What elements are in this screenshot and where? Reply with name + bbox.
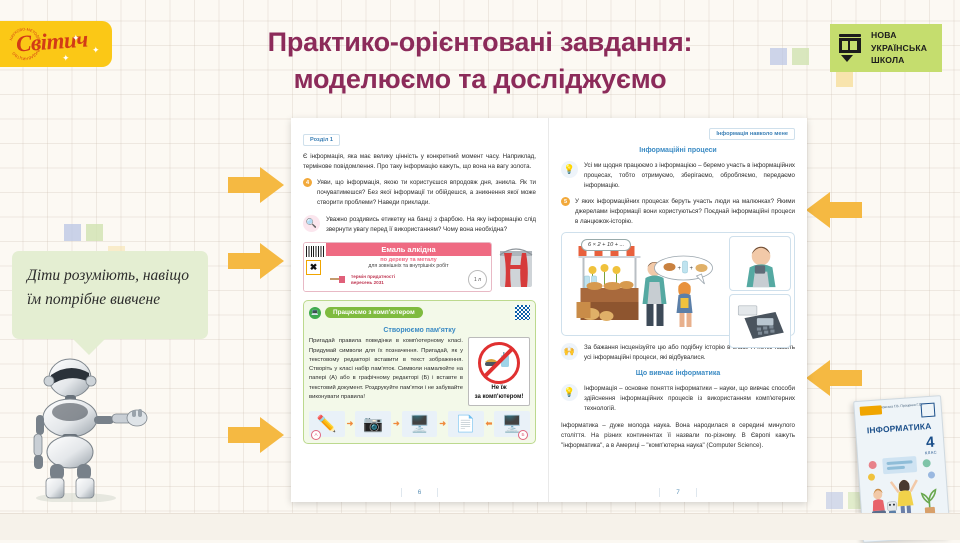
paint-expiry-value: вересень 2031 bbox=[351, 280, 395, 286]
nus-mark-icon bbox=[839, 34, 865, 62]
publisher-logo: НАУКОВО-МЕТОДИЧНЕ ВИДАВНИЦТВО Світич ✦ ✦… bbox=[0, 21, 112, 67]
svg-text:+: + bbox=[678, 266, 682, 272]
paint-can-image bbox=[496, 245, 536, 289]
slide-canvas: НАУКОВО-МЕТОДИЧНЕ ВИДАВНИЦТВО Світич ✦ ✦… bbox=[0, 0, 960, 540]
magnifier-icon: 🔍 bbox=[303, 215, 320, 232]
arrow-left-middle bbox=[228, 243, 284, 279]
warning-symbol: ✖ bbox=[306, 260, 321, 275]
magnifier-task-text: Уважно роздивись етикетку на банці з фар… bbox=[326, 215, 536, 235]
nus-logo: НОВА УКРАЇНСЬКА ШКОЛА bbox=[830, 24, 942, 72]
right-page-number-wrap: 7 bbox=[549, 489, 807, 496]
illustration-figure: + + 6 × 2 + 10 + ... bbox=[561, 232, 795, 336]
flow-tag-b: Б bbox=[518, 430, 528, 440]
bulb-task-2: 💡 Інформація – основне поняття інформати… bbox=[561, 384, 795, 414]
flow-step-editor: 🖥️ Б bbox=[494, 411, 530, 437]
paint-volume: 1 л bbox=[468, 270, 487, 289]
decor-square-green-left bbox=[86, 224, 103, 241]
assistant-scene bbox=[729, 236, 791, 291]
right-paragraph-last: Інформатика – дуже молода наука. Вона на… bbox=[561, 421, 795, 451]
bulb-text-2: Інформація – основне поняття інформатики… bbox=[584, 384, 795, 414]
magnifier-task: 🔍 Уважно роздивись етикетку на банці з ф… bbox=[303, 215, 536, 235]
flow-arrow-1: ➜ bbox=[347, 419, 354, 428]
payment-terminal-scene bbox=[729, 294, 791, 349]
computer-block-banner: Працюємо з комп'ютером bbox=[325, 307, 423, 318]
flow-arrow-3: ➜ bbox=[439, 419, 446, 428]
brush-icon bbox=[330, 275, 348, 284]
sign-line-2: за комп'ютером! bbox=[472, 394, 526, 402]
paint-label-body: Емаль алкідна по дереву та металу для зо… bbox=[326, 243, 491, 291]
task-4-number: 4 bbox=[303, 178, 312, 187]
paint-label-side: ✖ bbox=[304, 243, 326, 291]
flow-step-document: 📄 bbox=[448, 411, 484, 437]
nus-line-3: ШКОЛА bbox=[871, 54, 927, 67]
sparkle-icon-2: ✦ bbox=[62, 53, 70, 64]
paint-expiry-label: термін придатності bbox=[351, 274, 395, 280]
computer-block-heading: Створюємо пам'ятку bbox=[309, 327, 530, 334]
textbook-left-page: Розділ 1 Є інформація, яка має велику ці… bbox=[291, 118, 549, 502]
lightbulb-icon-2: 💡 bbox=[561, 384, 578, 401]
right-heading-2: Що вивчає інформатика bbox=[561, 370, 795, 377]
computer-block-text: Пригадай правила поведінки в комп'ютерно… bbox=[309, 337, 463, 406]
flow-tag-a: А bbox=[311, 430, 321, 440]
arrow-right-top bbox=[806, 192, 862, 228]
title-line-1: Практико-орієнтовані завдання: bbox=[268, 27, 693, 57]
cover-ribbon bbox=[860, 405, 883, 416]
left-page-number-wrap: 6 bbox=[291, 489, 548, 496]
decor-square-yellow-top bbox=[836, 70, 853, 87]
task-4: 4 Уяви, що інформація, якою ти користуєш… bbox=[303, 178, 536, 208]
prohibition-icon bbox=[478, 342, 520, 384]
right-heading-1: Інформаційні процеси bbox=[561, 147, 795, 154]
task-4-text: Уяви, що інформація, якою ти користуєшся… bbox=[317, 178, 536, 208]
market-scene: + + 6 × 2 + 10 + ... bbox=[565, 236, 726, 332]
paint-label-card: ✖ Емаль алкідна по дереву та металу для … bbox=[303, 242, 492, 292]
sign-line-1: Не їж bbox=[472, 385, 526, 393]
cover-illustration bbox=[862, 452, 944, 519]
right-page-number: 7 bbox=[659, 488, 697, 497]
callout-box: Діти розуміють, навіщо їм потрібне вивче… bbox=[12, 251, 208, 339]
barcode-icon bbox=[306, 246, 324, 257]
computer-block-icon: 💻 bbox=[309, 307, 321, 319]
hands-icon: 🙌 bbox=[561, 343, 578, 360]
page-title: Практико-орієнтовані завдання: моделюємо… bbox=[170, 24, 790, 99]
paint-title: Емаль алкідна bbox=[326, 243, 491, 256]
sparkle-icon-3: ✦ bbox=[92, 45, 100, 56]
sparkle-icon-1: ✦ bbox=[72, 33, 80, 44]
task-5-text: У яких інформаційних процесах беруть уча… bbox=[575, 197, 795, 227]
chapter-tag: Розділ 1 bbox=[303, 134, 340, 146]
cover-grade-number: 4 bbox=[924, 435, 937, 451]
workflow-diagram: ✏️ А ➜ 📷 ➜ 🖥️ ➜ 📄 ⬅ 🖥️ Б bbox=[309, 411, 530, 437]
no-eating-sign: Не їж за комп'ютером! bbox=[468, 337, 530, 406]
task-5: 5 У яких інформаційних процесах беруть у… bbox=[561, 197, 795, 227]
paint-subtitle: по дереву та металу bbox=[326, 256, 491, 263]
cover-badge-icon bbox=[920, 403, 935, 418]
nus-line-1: НОВА bbox=[871, 29, 927, 42]
qr-code-icon bbox=[515, 305, 530, 320]
nus-logo-text: НОВА УКРАЇНСЬКА ШКОЛА bbox=[871, 29, 927, 68]
flow-step-camera: 📷 bbox=[355, 411, 391, 437]
arrow-left-bottom bbox=[228, 417, 284, 453]
computer-activity-block: 💻 Працюємо з комп'ютером Створюємо пам'я… bbox=[303, 300, 536, 444]
math-bubble: 6 × 2 + 10 + ... bbox=[581, 239, 631, 251]
robot-mascot bbox=[20, 352, 152, 502]
left-page-number: 6 bbox=[401, 488, 439, 497]
task-5-number: 5 bbox=[561, 197, 570, 206]
svg-text:+: + bbox=[690, 266, 694, 272]
computer-block-header: 💻 Працюємо з комп'ютером bbox=[309, 305, 530, 320]
illustration-side-column bbox=[729, 236, 791, 332]
arrow-left-top bbox=[228, 167, 284, 203]
textbook-right-page: Інформація навколо мене Інформаційні про… bbox=[549, 118, 807, 502]
textbook-spread: Розділ 1 Є інформація, яка має велику ці… bbox=[291, 118, 807, 502]
left-paragraph-1: Є інформація, яка має велику цінність у … bbox=[303, 152, 536, 172]
flow-step-drawing: ✏️ А bbox=[309, 411, 345, 437]
flow-arrow-2: ➜ bbox=[393, 419, 400, 428]
flow-step-monitor: 🖥️ bbox=[402, 411, 438, 437]
flow-arrow-4: ⬅ bbox=[486, 419, 493, 428]
decor-square-blue-left bbox=[64, 224, 81, 241]
decor-square-green-top bbox=[792, 48, 809, 65]
nus-line-2: УКРАЇНСЬКА bbox=[871, 42, 927, 55]
bottom-band bbox=[0, 513, 960, 540]
section-tag: Інформація навколо мене bbox=[709, 128, 795, 140]
lightbulb-icon: 💡 bbox=[561, 161, 578, 178]
callout-text: Діти розуміють, навіщо їм потрібне вивче… bbox=[12, 251, 208, 311]
title-line-2: моделюємо та досліджуємо bbox=[170, 61, 790, 98]
bulb-text-1: Усі ми щодня працюємо з інформацією – бе… bbox=[584, 161, 795, 191]
arrow-right-bottom bbox=[806, 360, 862, 396]
decor-square-blue-bottom bbox=[826, 492, 843, 509]
paint-label-figure: ✖ Емаль алкідна по дереву та металу для … bbox=[303, 242, 536, 292]
bulb-task-1: 💡 Усі ми щодня працюємо з інформацією – … bbox=[561, 161, 795, 191]
